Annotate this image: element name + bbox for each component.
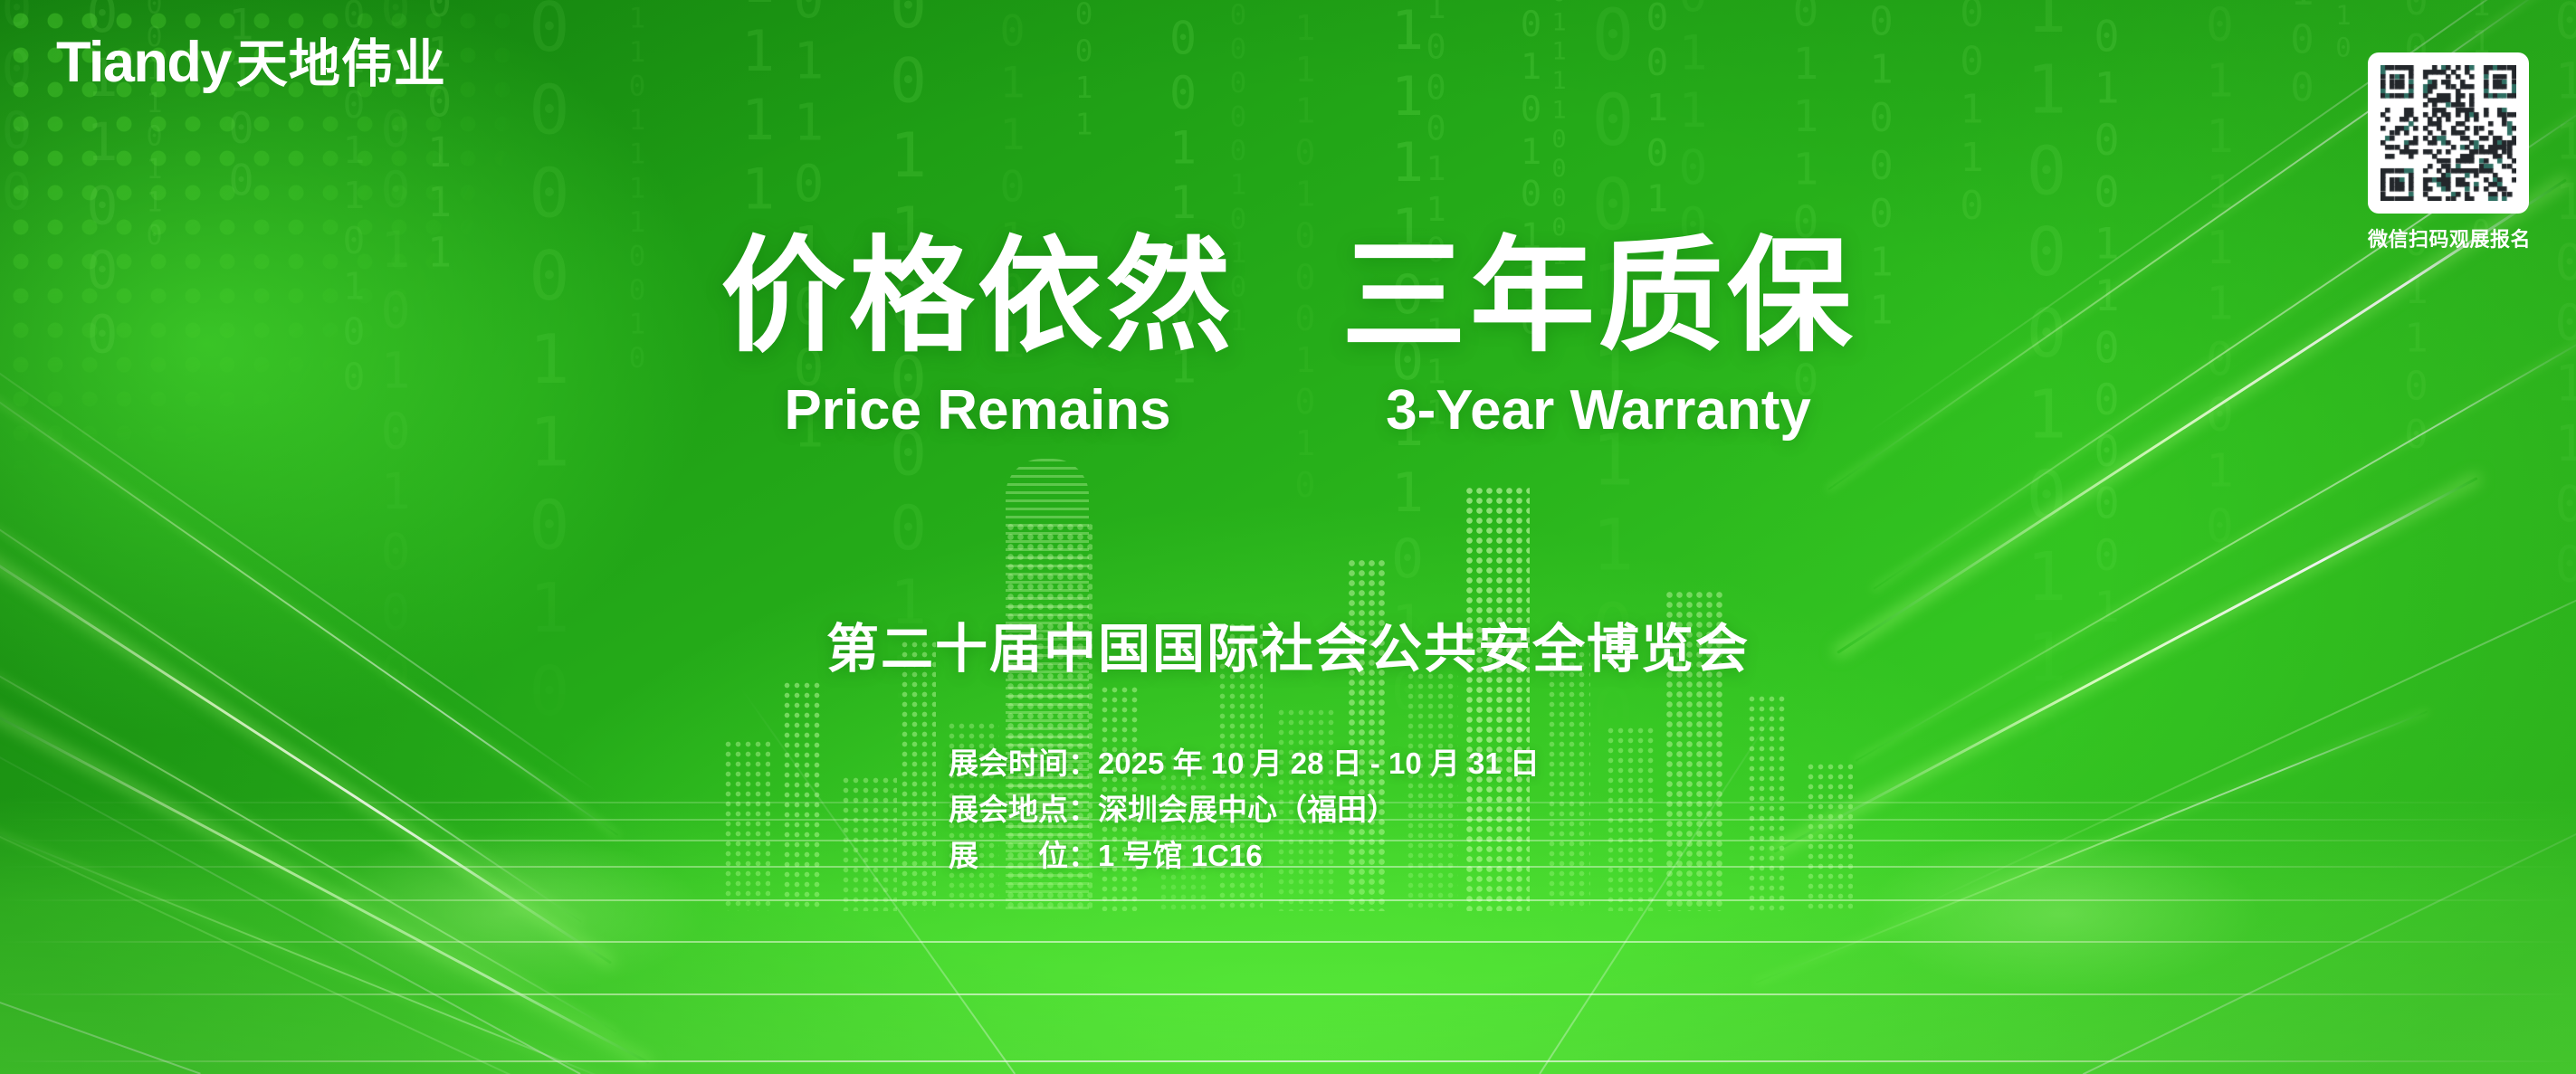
headline-right-cjk: 三年质保 bbox=[1341, 232, 1856, 363]
headline-right-en: 3-Year Warranty bbox=[1386, 383, 1811, 439]
expo-title: 第二十届中国国际社会公共安全博览会 bbox=[0, 606, 2576, 682]
headline-row: 价格依然 Price Remains 三年质保 3-Year Warranty bbox=[0, 232, 2576, 439]
detail-row-venue: 展会地点：深圳会展中心（福田） bbox=[949, 786, 1540, 832]
qr-registration-block[interactable]: 微信扫码观展报名 bbox=[2368, 52, 2529, 252]
detail-row-date: 展会时间：2025 年 10 月 28 日 - 10 月 31 日 bbox=[949, 740, 1540, 786]
promo-banner: 0000001100010011011001100010110100000010… bbox=[0, 0, 2576, 1074]
detail-row-booth: 展 位：1 号馆 1C16 bbox=[949, 832, 1540, 879]
detail-label-booth: 展 位： bbox=[949, 839, 1098, 872]
detail-label-date: 展会时间： bbox=[949, 746, 1098, 780]
headline-left-en: Price Remains bbox=[784, 383, 1170, 439]
detail-value-booth: 1 号馆 1C16 bbox=[1098, 839, 1263, 872]
headline-left: 价格依然 Price Remains bbox=[720, 232, 1235, 439]
brand-logo: Tiandy 天地伟业 bbox=[56, 34, 446, 91]
expo-details: 展会时间：2025 年 10 月 28 日 - 10 月 31 日 展会地点：深… bbox=[949, 740, 1540, 879]
detail-label-venue: 展会地点： bbox=[949, 793, 1098, 826]
headline-right: 三年质保 3-Year Warranty bbox=[1341, 232, 1856, 439]
brand-logo-latin: Tiandy bbox=[56, 34, 231, 91]
qr-code-icon[interactable] bbox=[2368, 52, 2529, 214]
qr-code-canvas bbox=[2380, 65, 2516, 201]
detail-value-venue: 深圳会展中心（福田） bbox=[1098, 793, 1397, 826]
headline-left-cjk: 价格依然 bbox=[720, 232, 1235, 363]
brand-logo-cjk: 天地伟业 bbox=[236, 39, 446, 90]
detail-value-date: 2025 年 10 月 28 日 - 10 月 31 日 bbox=[1098, 746, 1540, 780]
